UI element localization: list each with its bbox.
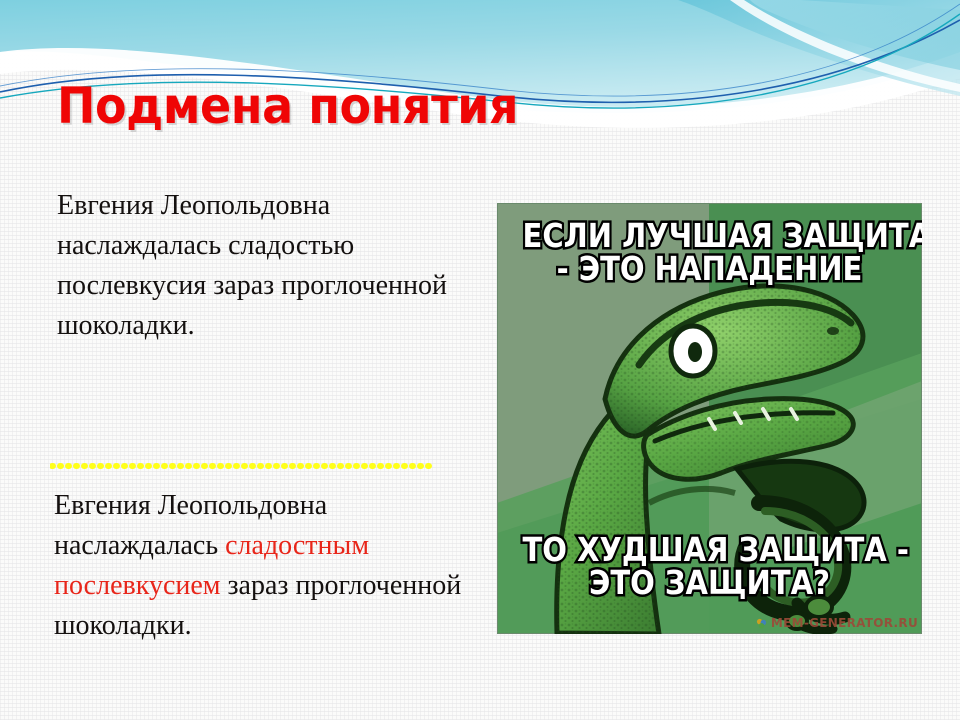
paragraph-corrected-wrap: Евгения Леопольдовна наслаждалась сладос… — [50, 486, 470, 646]
dotted-divider — [50, 462, 432, 470]
paragraph-original-text: Евгения Леопольдовна наслаждалась сладос… — [57, 190, 447, 341]
wave-sliver-white — [730, 0, 960, 92]
body-text-column: Евгения Леопольдовна наслаждалась сладос… — [46, 186, 456, 346]
meme-caption-bottom-line-2: ЭТО ЗАЩИТА? — [523, 566, 897, 599]
meme-caption-top-line-1: ЕСЛИ ЛУЧШАЯ ЗАЩИТА — [523, 219, 897, 252]
meme-image: ЕСЛИ ЛУЧШАЯ ЗАЩИТА - ЭТО НАПАДЕНИЕ ТО ХУ… — [497, 203, 922, 634]
meme-watermark-text: MEM-GENERATOR.RU — [771, 616, 918, 630]
mem-generator-logo-icon — [756, 618, 767, 629]
meme-caption-bottom: ТО ХУДШАЯ ЗАЩИТА - ЭТО ЗАЩИТА? — [523, 533, 897, 599]
meme-watermark: MEM-GENERATOR.RU — [756, 616, 918, 630]
meme-caption-top-line-2: - ЭТО НАПАДЕНИЕ — [523, 252, 897, 285]
slide-canvas: Подмена понятия Евгения Леопольдовна нас… — [0, 0, 960, 720]
wave-ribbon-right — [678, 0, 960, 96]
meme-caption-top: ЕСЛИ ЛУЧШАЯ ЗАЩИТА - ЭТО НАПАДЕНИЕ — [523, 219, 897, 285]
slide-title: Подмена понятия — [57, 78, 518, 134]
paragraph-corrected: Евгения Леопольдовна наслаждалась сладос… — [50, 486, 470, 646]
meme-caption-bottom-line-1: ТО ХУДШАЯ ЗАЩИТА - — [523, 533, 897, 566]
wave-ribbon-right-2 — [750, 0, 960, 70]
paragraph-original: Евгения Леопольдовна наслаждалась сладос… — [46, 186, 456, 346]
